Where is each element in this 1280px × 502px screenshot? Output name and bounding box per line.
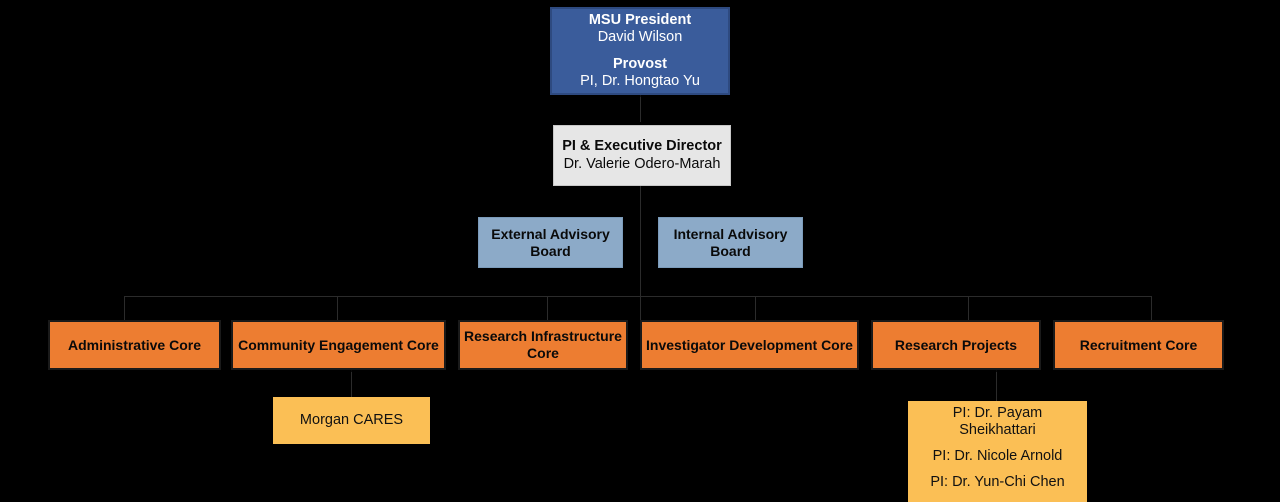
node-research-projects[interactable]: Research Projects [871, 320, 1041, 370]
pi-yunchi-line1: PI: Dr. Yun-Chi Chen [930, 474, 1064, 491]
node-recruitment-core[interactable]: Recruitment Core [1053, 320, 1224, 370]
research-infrastructure-core-line2: Core [460, 345, 626, 362]
connector-director-spine [640, 186, 641, 320]
node-community-engagement-core[interactable]: Community Engagement Core [231, 320, 446, 370]
pi-nicole-line1: PI: Dr. Nicole Arnold [933, 448, 1063, 465]
research-infrastructure-core-line1: Research Infrastructure [460, 328, 626, 345]
node-msu-president-provost[interactable]: MSU President David Wilson Provost PI, D… [550, 7, 730, 95]
connector-stub-recruitment-core [1151, 296, 1152, 320]
morgan-cares-label: Morgan CARES [273, 412, 430, 429]
node-research-project-pis[interactable]: PI: Dr. Payam Sheikhattari PI: Dr. Nicol… [908, 401, 1087, 502]
internal-advisory-line1: Internal Advisory [659, 226, 802, 243]
director-role: PI & Executive Director [554, 138, 730, 155]
director-name: Dr. Valerie Odero-Marah [554, 156, 730, 173]
administrative-core-line1: Administrative Core [50, 337, 219, 354]
node-investigator-development-core[interactable]: Investigator Development Core [640, 320, 859, 370]
connector-stub-administrative-core [124, 296, 125, 320]
connector-community-to-morgan-cares [351, 370, 352, 397]
connector-stub-research-projects [968, 296, 969, 320]
external-advisory-line1: External Advisory [479, 226, 622, 243]
pi-payam-line2: Sheikhattari [953, 422, 1042, 439]
recruitment-core-line1: Recruitment Core [1055, 337, 1222, 354]
connector-stub-investigator-development-core [755, 296, 756, 320]
pi-item-yun-chi-chen: PI: Dr. Yun-Chi Chen [930, 474, 1064, 491]
connector-research-projects-to-pis [996, 370, 997, 401]
provost-title: Provost [552, 56, 728, 73]
node-research-infrastructure-core[interactable]: Research Infrastructure Core [458, 320, 628, 370]
external-advisory-line2: Board [479, 243, 622, 260]
president-name: David Wilson [552, 29, 728, 46]
node-morgan-cares[interactable]: Morgan CARES [273, 397, 430, 444]
investigator-development-core-line1: Investigator Development Core [642, 337, 857, 354]
pi-item-payam-sheikhattari: PI: Dr. Payam Sheikhattari [953, 405, 1042, 439]
connector-exec-to-director [640, 94, 641, 122]
research-projects-line1: Research Projects [873, 337, 1039, 354]
pi-payam-line1: PI: Dr. Payam [953, 405, 1042, 422]
internal-advisory-line2: Board [659, 243, 802, 260]
node-external-advisory-board[interactable]: External Advisory Board [478, 217, 623, 268]
node-administrative-core[interactable]: Administrative Core [48, 320, 221, 370]
community-engagement-core-line1: Community Engagement Core [233, 337, 444, 354]
provost-name: PI, Dr. Hongtao Yu [552, 73, 728, 90]
node-internal-advisory-board[interactable]: Internal Advisory Board [658, 217, 803, 268]
org-chart-canvas: MSU President David Wilson Provost PI, D… [0, 0, 1280, 502]
president-title: MSU President [552, 12, 728, 29]
node-pi-executive-director[interactable]: PI & Executive Director Dr. Valerie Oder… [553, 125, 731, 186]
connector-stub-research-infrastructure-core [547, 296, 548, 320]
pi-item-nicole-arnold: PI: Dr. Nicole Arnold [933, 448, 1063, 465]
connector-core-distribution-bar [124, 296, 1151, 297]
connector-stub-community-engagement-core [337, 296, 338, 320]
